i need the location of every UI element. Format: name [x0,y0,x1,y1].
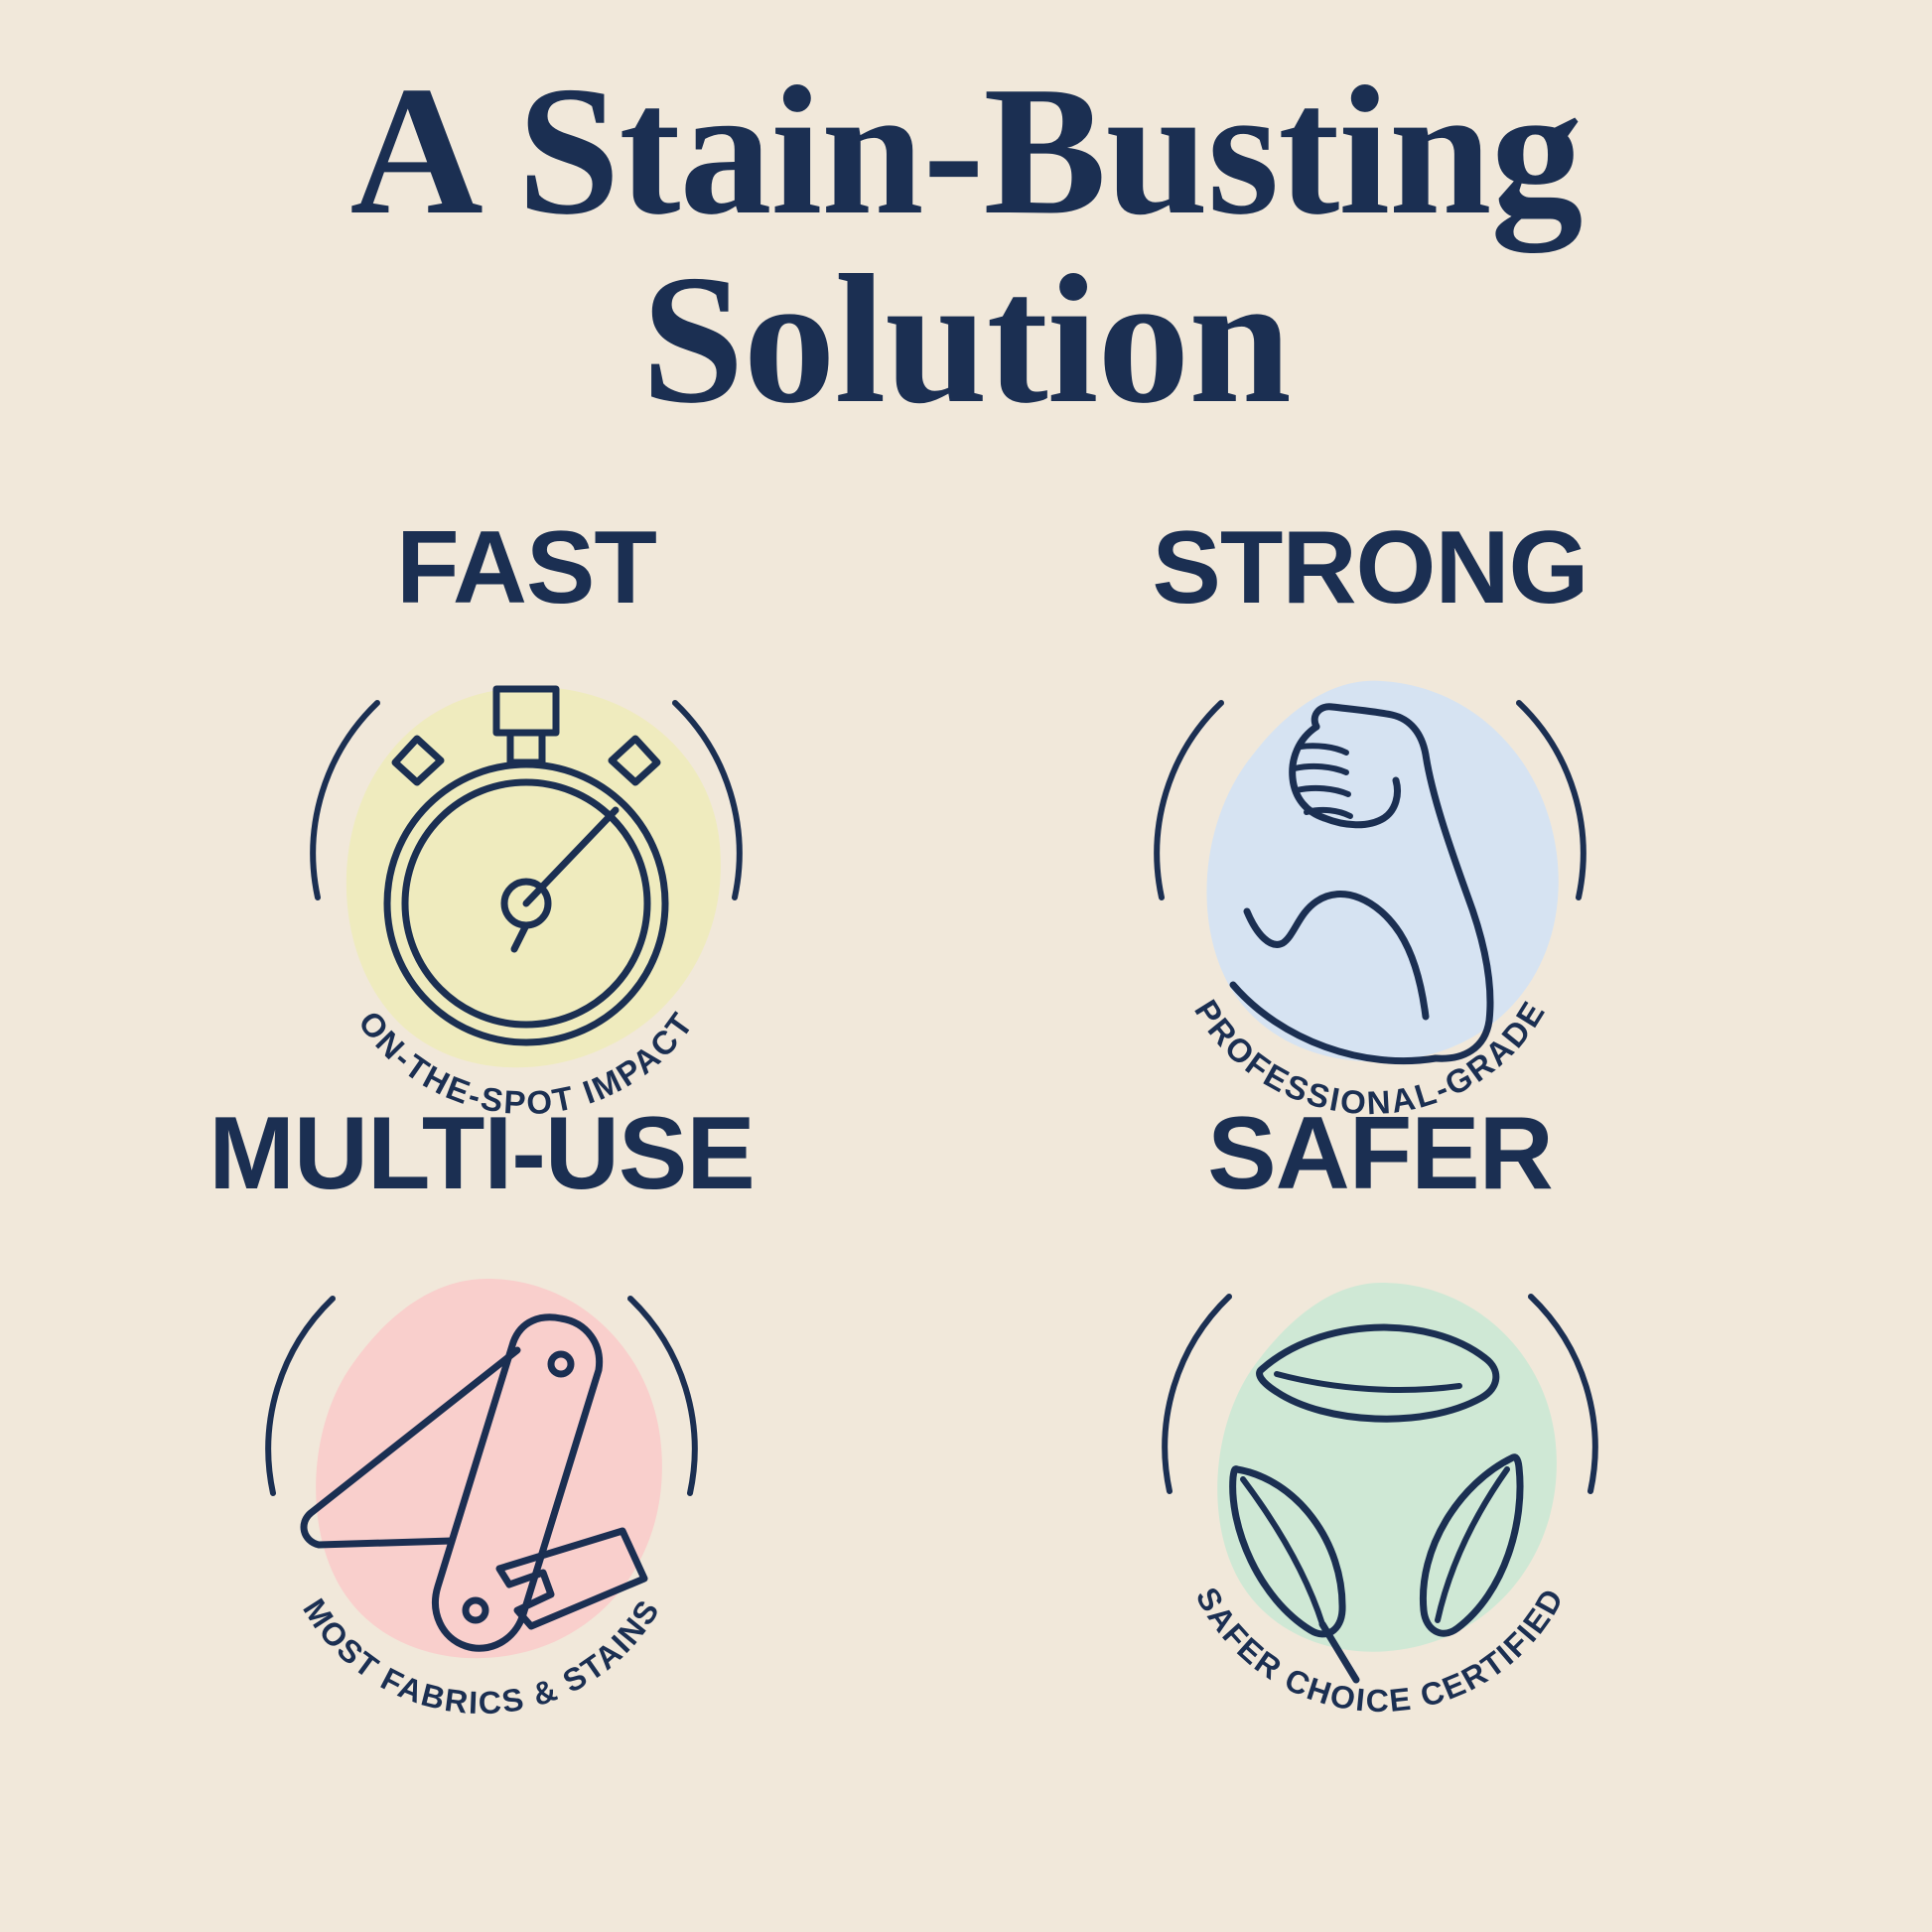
page-title: A Stain-Busting Solution [0,58,1932,434]
badge-mark-strong: PROFESSIONAL-GRADE [1122,616,1618,1172]
benefit-badge-multi-use: MULTI-USE [104,1102,859,1797]
page-title-line-2: Solution [0,246,1932,435]
page-title-line-1: A Stain-Busting [0,58,1932,246]
badge-mark-fast: ON-THE-SPOT IMPACT [278,616,774,1172]
badge-heading-strong: STRONG [993,516,1747,620]
blob-shape-blue [1206,681,1558,1062]
badge-heading-safer: SAFER [1003,1102,1757,1205]
badge-heading-fast: FAST [149,516,903,620]
badge-heading-multi-use: MULTI-USE [104,1102,859,1205]
benefit-badge-grid: FAST [0,516,1932,1926]
benefit-badge-safer: SAFER [1003,1102,1757,1797]
badge-mark-multi-use: MOST FABRICS & STAINS [233,1213,730,1769]
badge-mark-safer: SAFER CHOICE CERTIFIED [1132,1213,1628,1769]
infographic-poster: A Stain-Busting Solution FAST [0,0,1932,1932]
